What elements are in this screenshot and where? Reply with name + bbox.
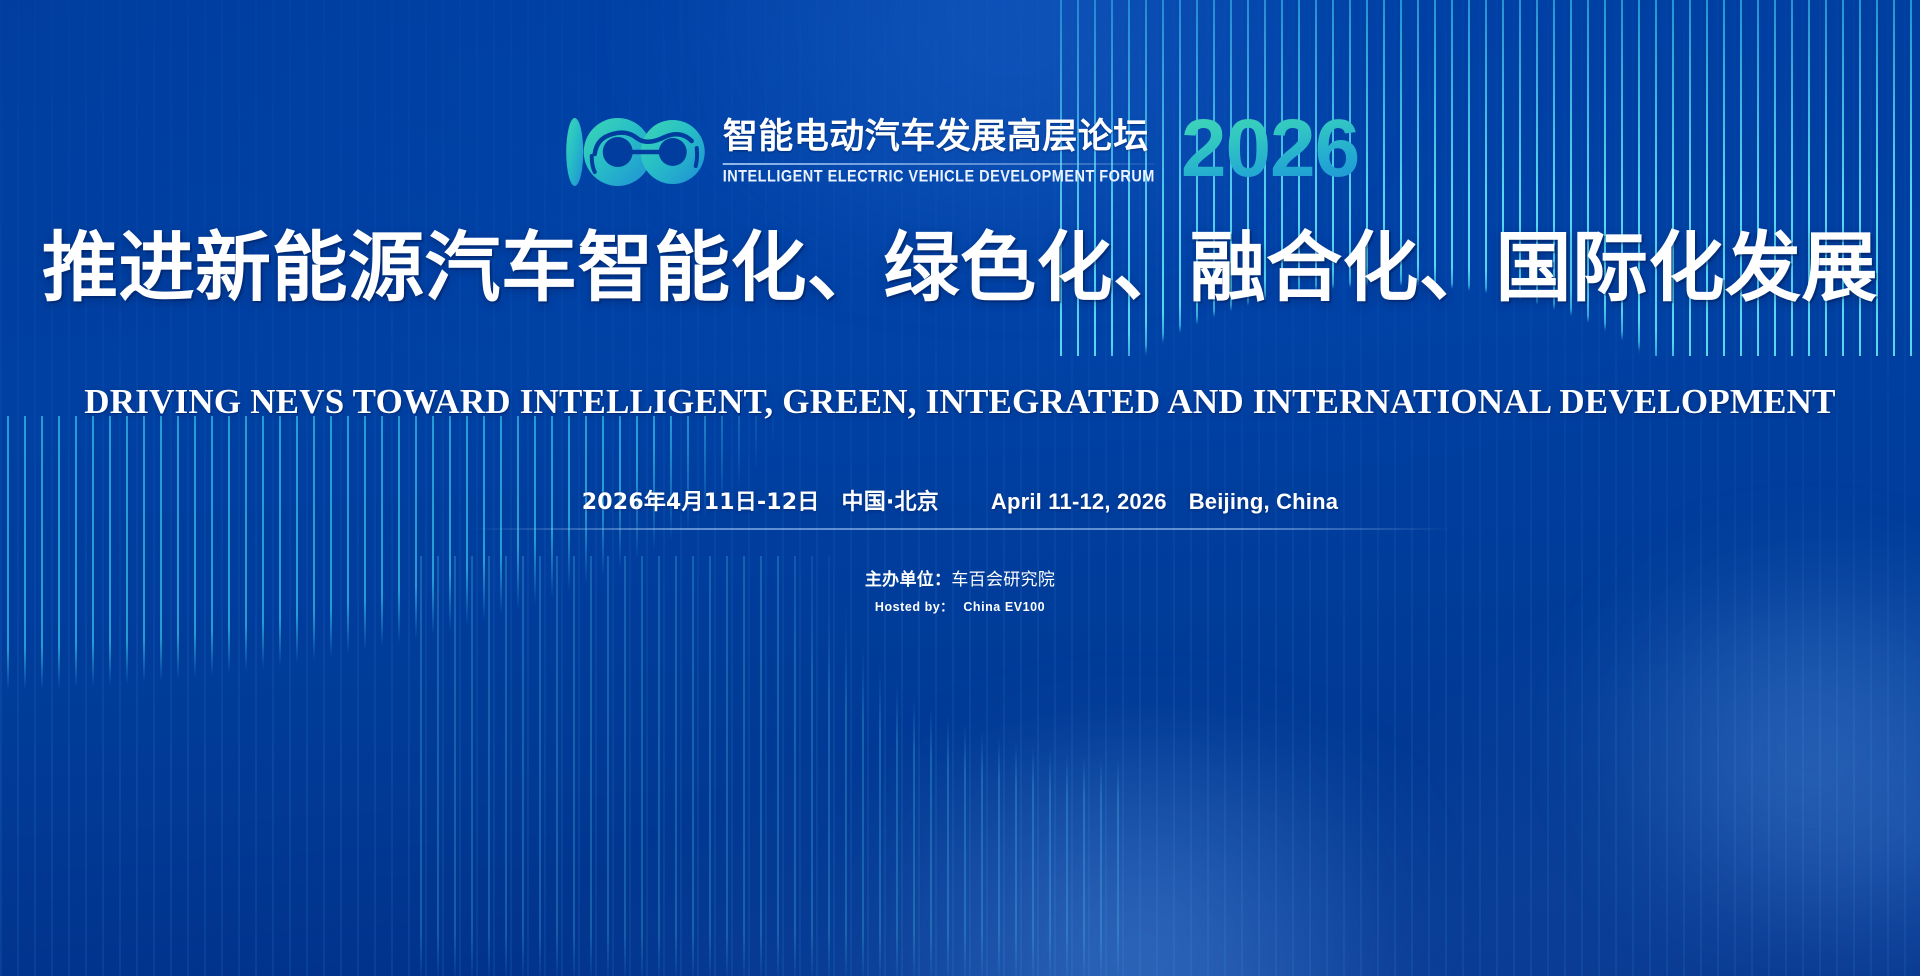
host-line-cn: 主办单位：车百会研究院 [0,568,1920,594]
logo-text-block: 智能电动汽车发展高层论坛 INTELLIGENT ELECTRIC VEHICL… [723,119,1155,185]
event-date-cn: 2026年4月11日-12日 [582,484,820,516]
logo-title-en: INTELLIGENT ELECTRIC VEHICLE DEVELOPMENT… [723,168,1155,186]
event-date-en: April 11-12, 2026 [991,489,1167,515]
host-block: 主办单位：车百会研究院 Hosted by：China EV100 [0,568,1920,615]
meta-divider [470,528,1450,530]
logo-divider [723,163,1155,165]
event-meta-row: 2026年4月11日-12日 中国·北京 April 11-12, 2026 B… [0,484,1920,516]
host-label-cn: 主办单位： [865,570,952,590]
event-place-cn: 中国·北京 [842,484,939,516]
host-value-cn: 车百会研究院 [951,570,1055,590]
logo-title-cn: 智能电动汽车发展高层论坛 [723,119,1155,157]
host-value-en: China EV100 [963,600,1045,614]
host-label-en: Hosted by： [875,600,953,614]
100-car-logo-icon [561,108,709,196]
conference-banner: 智能电动汽车发展高层论坛 INTELLIGENT ELECTRIC VEHICL… [0,0,1920,976]
logo-year: 2026 [1181,111,1359,186]
headline-cn: 推进新能源汽车智能化、绿色化、融合化、国际化发展 [0,228,1920,309]
event-place-en: Beijing, China [1189,489,1338,515]
logo-lockup: 智能电动汽车发展高层论坛 INTELLIGENT ELECTRIC VEHICL… [561,108,1360,196]
banner-content: 智能电动汽车发展高层论坛 INTELLIGENT ELECTRIC VEHICL… [0,0,1920,976]
headline-en: DRIVING NEVS TOWARD INTELLIGENT, GREEN, … [0,382,1920,422]
host-line-en: Hosted by：China EV100 [0,596,1920,615]
